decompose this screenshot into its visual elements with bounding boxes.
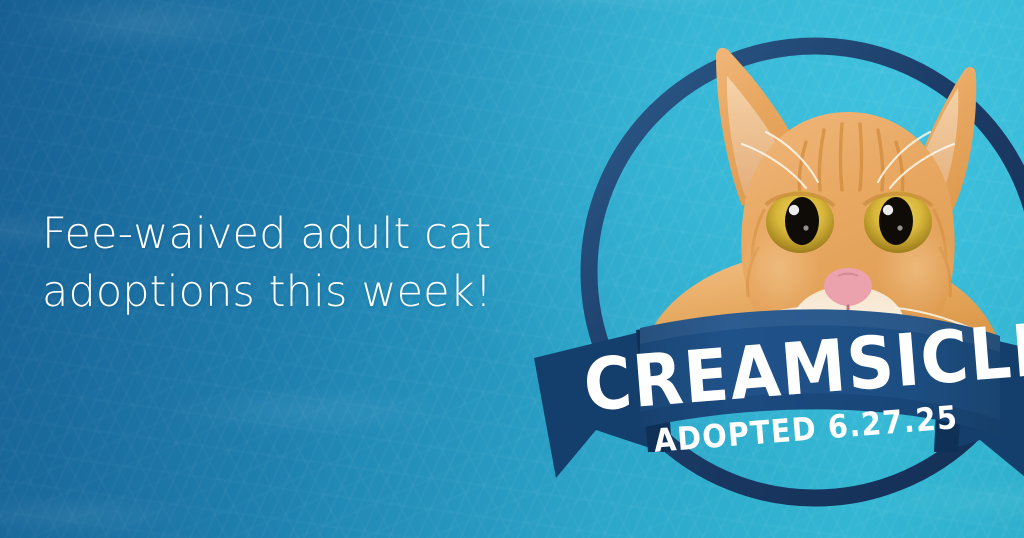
adoption-promo-banner: Fee-waived adult cat adoptions this week… — [0, 0, 1024, 538]
headline-text: Fee-waived adult cat adoptions this week… — [42, 205, 542, 322]
